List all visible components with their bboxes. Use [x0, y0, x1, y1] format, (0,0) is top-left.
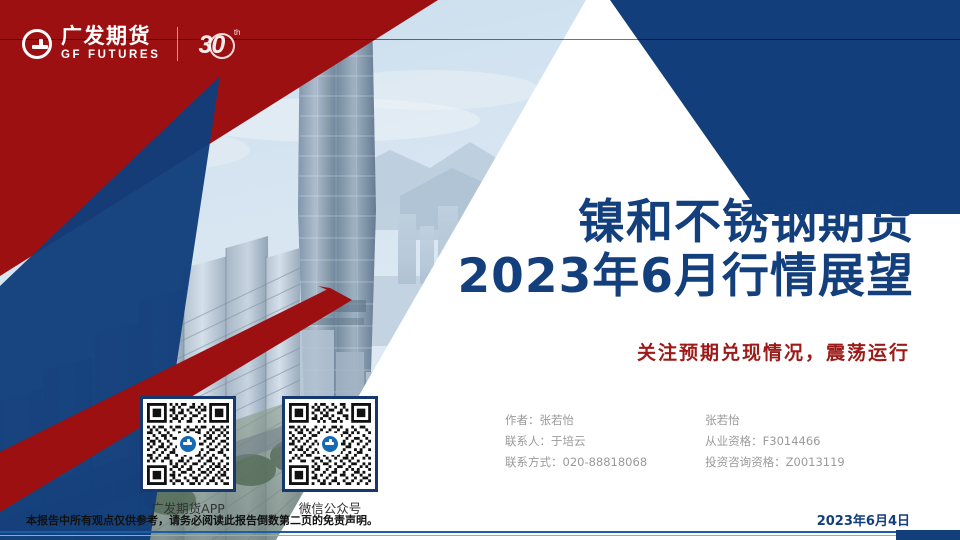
title-line-2: 2023年6月行情展望 — [457, 250, 914, 304]
brand-wordmark: 广发期货 GF FUTURES — [61, 26, 160, 62]
brand-logo: 广发期货 GF FUTURES 30 th — [22, 26, 241, 62]
meta-contact-phone: 联系方式：020-88818068 — [505, 456, 647, 470]
brand-name-cn: 广发期货 — [61, 26, 160, 47]
qr-center-logo-wechat — [319, 433, 341, 455]
meta-analyst-name: 张若怡 — [705, 414, 845, 428]
anniversary-number: 30 — [198, 31, 224, 60]
page-title: 镍和不锈钢期货 2023年6月行情展望 — [457, 196, 914, 303]
gf-logo-icon — [322, 436, 338, 452]
author-column-left: 作者：张若怡 联系人：于培云 联系方式：020-88818068 — [505, 414, 647, 469]
author-column-right: 张若怡 从业资格：F3014466 投资咨询资格：Z0013119 — [705, 414, 845, 469]
title-line-1: 镍和不锈钢期货 — [457, 196, 914, 250]
disclaimer-text: 本报告中所有观点仅供参考，请务必阅读此报告倒数第二页的免责声明。 — [26, 512, 378, 528]
meta-contact-person: 联系人：于培云 — [505, 435, 647, 449]
author-meta: 作者：张若怡 联系人：于培云 联系方式：020-88818068 张若怡 从业资… — [505, 414, 845, 469]
meta-practice-license: 从业资格：F3014466 — [705, 435, 845, 449]
slide-canvas: 广发期货 GF FUTURES 30 th 镍和不锈钢期货 2023年6月行情展… — [0, 0, 960, 540]
qr-center-logo-app — [177, 433, 199, 455]
qr-code-group: 广发期货APP — [140, 396, 378, 517]
meta-advisory-license: 投资咨询资格：Z0013119 — [705, 456, 845, 470]
footer-rule-secondary — [0, 535, 960, 536]
qr-item-app[interactable]: 广发期货APP — [140, 396, 236, 517]
gf-circle-logo-icon — [22, 29, 52, 59]
brand-name-en: GF FUTURES — [61, 50, 160, 62]
footer-corner-block — [896, 530, 960, 540]
slide-date: 2023年6月4日 — [817, 510, 910, 529]
anniversary-badge: 30 th — [195, 27, 241, 61]
qr-code-app[interactable] — [140, 396, 236, 492]
gf-logo-icon — [180, 436, 196, 452]
qr-item-wechat[interactable]: 微信公众号 — [282, 396, 378, 517]
meta-author: 作者：张若怡 — [505, 414, 647, 428]
anniversary-suffix: th — [234, 28, 241, 37]
footer-rule — [0, 531, 960, 533]
qr-code-wechat[interactable] — [282, 396, 378, 492]
logo-divider — [177, 27, 178, 61]
page-subtitle: 关注预期兑现情况，震荡运行 — [637, 338, 910, 365]
